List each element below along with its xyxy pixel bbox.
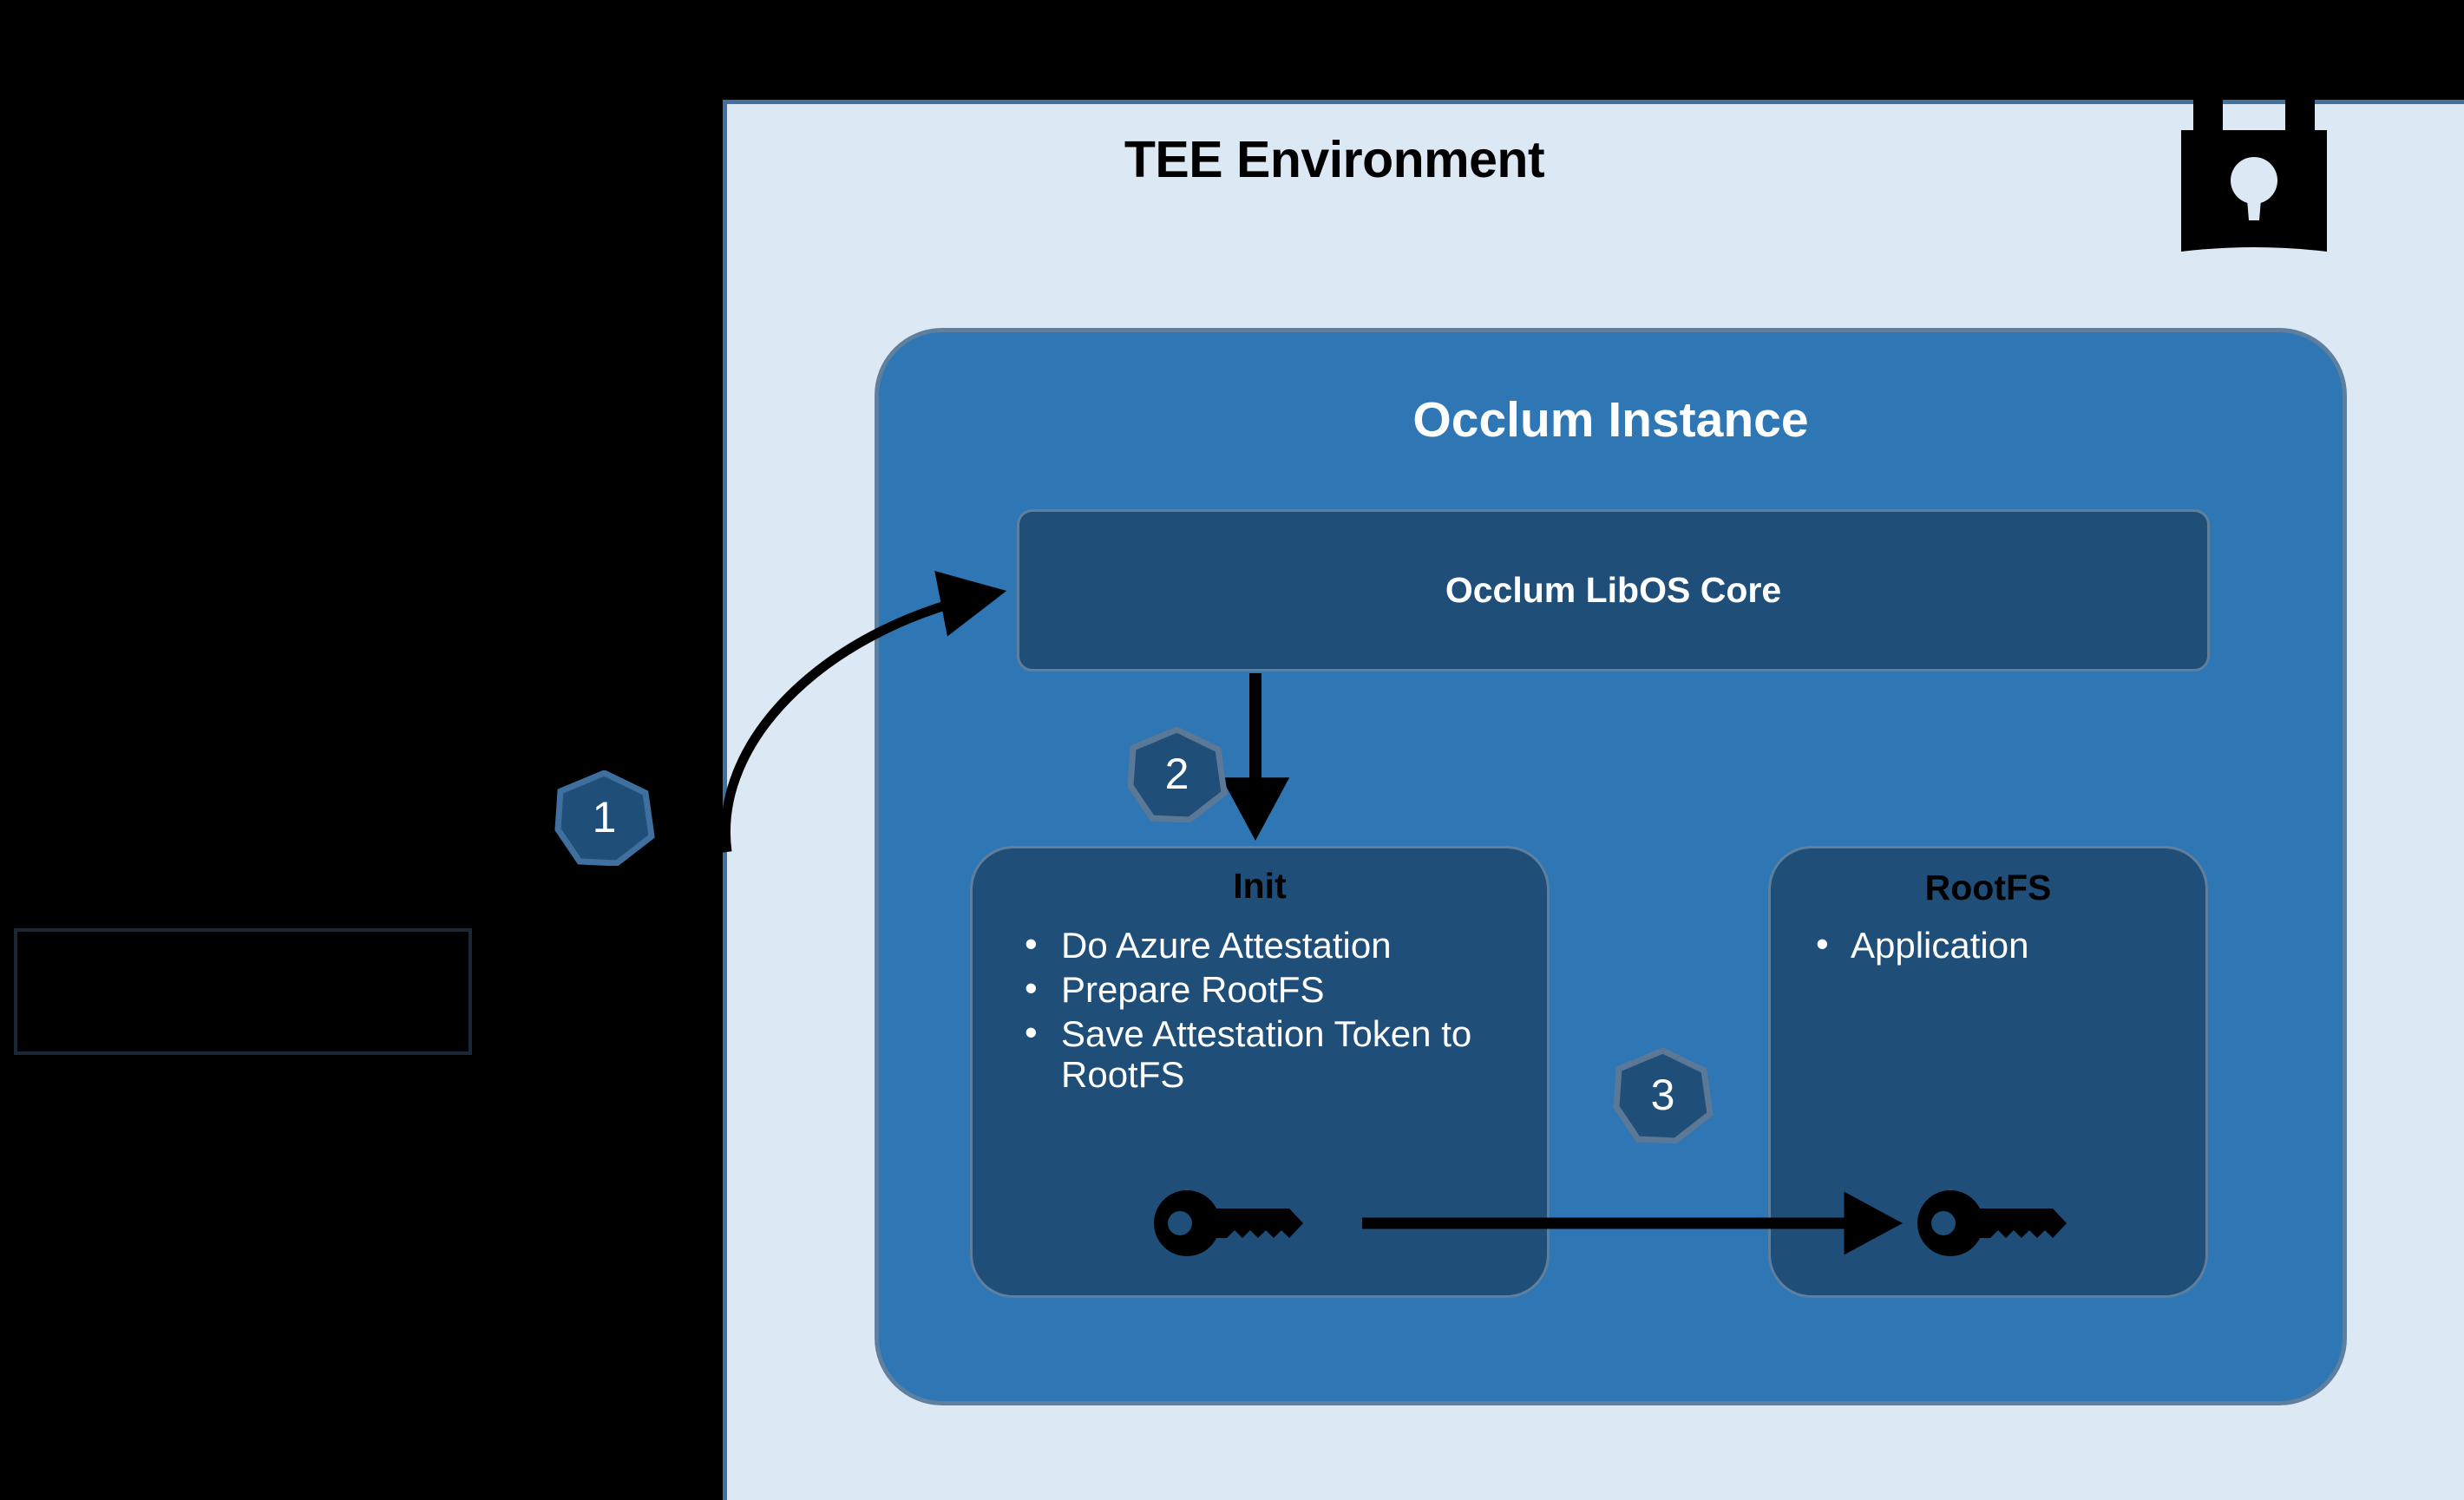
occlum-instance-title: Occlum Instance (879, 391, 2343, 449)
step-badge-1: 1 (554, 770, 655, 866)
rootfs-title: RootFS (1771, 868, 2205, 908)
rootfs-bullet-list: Application (1797, 925, 2187, 966)
step-badge-2-number: 2 (1126, 727, 1228, 822)
step-badge-3: 3 (1612, 1048, 1714, 1143)
list-item: Save Attestation Token to RootFS (1007, 1013, 1528, 1095)
list-item: Application (1797, 925, 2187, 966)
list-item: Prepare RootFS (1007, 969, 1528, 1010)
key-icon (1154, 1190, 1315, 1256)
key-icon (1917, 1190, 2079, 1256)
init-title: Init (973, 866, 1547, 907)
occlum-libos-core-label: Occlum LibOS Core (1445, 570, 1781, 611)
step-badge-1-number: 1 (554, 770, 655, 866)
occlum-libos-core-box: Occlum LibOS Core (1017, 509, 2210, 671)
list-item: Do Azure Attestation (1007, 925, 1528, 966)
left-placeholder-box (14, 928, 472, 1055)
init-bullet-list: Do Azure Attestation Prepare RootFS Save… (1007, 925, 1528, 1098)
step-badge-3-number: 3 (1612, 1048, 1714, 1143)
step-badge-2: 2 (1126, 727, 1228, 822)
padlock-icon (2164, 50, 2344, 254)
tee-environment-title: TEE Environment (727, 130, 1942, 189)
